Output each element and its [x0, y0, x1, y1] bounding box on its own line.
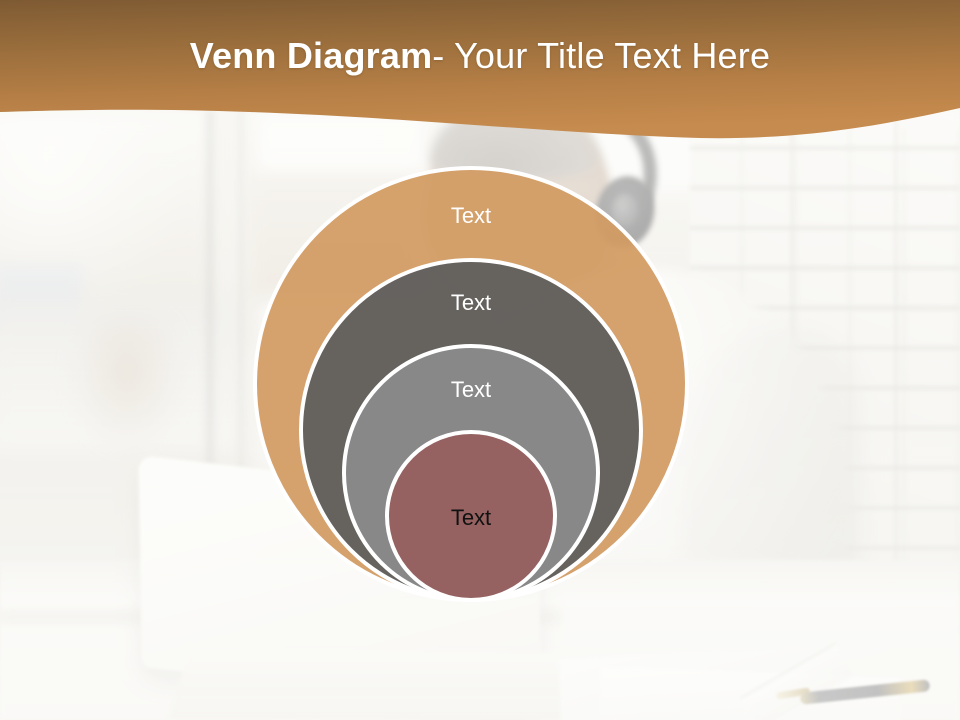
slide-canvas: Venn Diagram - Your Title Text Here Text… — [0, 0, 960, 720]
venn-label-third-ring[interactable]: Text — [451, 377, 491, 403]
venn-label-inner[interactable]: Text — [451, 505, 491, 531]
venn-label-second-ring[interactable]: Text — [451, 290, 491, 316]
venn-diagram: Text Text Text Text — [0, 0, 960, 720]
venn-label-outer-ring[interactable]: Text — [451, 203, 491, 229]
